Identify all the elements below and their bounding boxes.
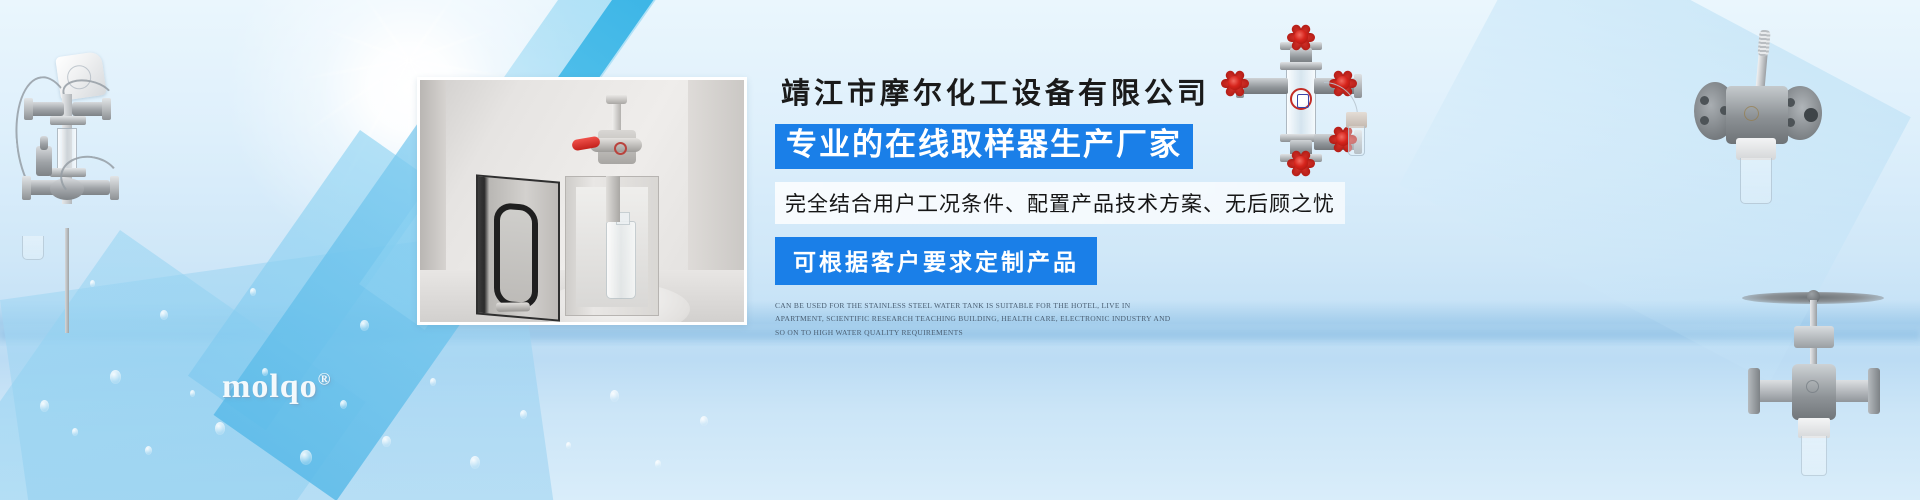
brand-logo-text: molqo [222,368,318,405]
registered-trademark-mark: ® [318,370,332,389]
handwheel-icon [1222,70,1248,96]
certification-seal-icon [1290,88,1312,110]
product-photo [417,77,747,325]
handwheel-icon [1288,24,1314,50]
gate-sampling-valve-graphic [1748,268,1878,488]
handwheel-icon [1288,150,1314,176]
brand-mark-icon [1806,380,1819,393]
promotional-banner: 靖江市摩尔化工设备有限公司 专业的在线取样器生产厂家 完全结合用户工况条件、配置… [0,0,1920,500]
english-description: CAN BE USED FOR THE STAINLESS STEEL WATE… [775,299,1175,341]
sun-ray-decoration [409,27,499,61]
brand-mark-icon [1744,106,1759,121]
headline-banner: 专业的在线取样器生产厂家 [775,124,1193,169]
left-sampler-assembly-graphic [10,28,160,318]
lever-sampling-valve-graphic [1686,30,1836,220]
brand-logo: molqo® [222,368,331,406]
custom-product-banner: 可根据客户要求定制产品 [775,237,1097,285]
cross-valve-graphic [1222,38,1382,168]
subheadline-text: 完全结合用户工况条件、配置产品技术方案、无后顾之忧 [775,182,1345,224]
sun-ray-decoration [302,59,410,135]
